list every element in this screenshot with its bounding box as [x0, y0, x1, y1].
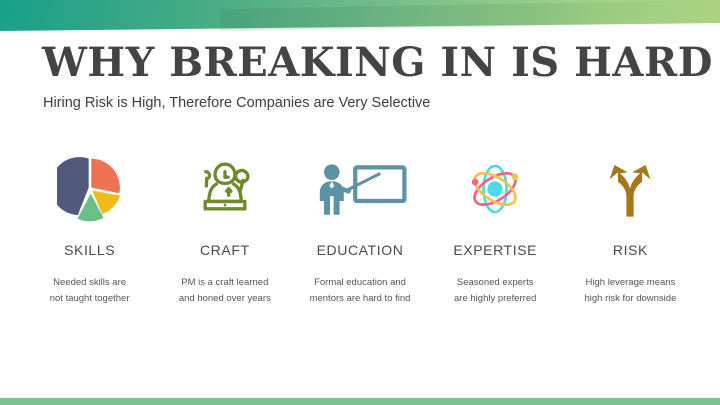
column-description: High leverage means high risk for downsi… — [584, 275, 676, 306]
column-label: SKILLS — [64, 242, 115, 258]
column-description: Needed skills are not taught together — [50, 275, 130, 306]
atom-icon — [428, 150, 563, 228]
slide-canvas: WHY BREAKING IN IS HARD Hiring Risk is H… — [0, 0, 720, 405]
feature-columns: SKILLS Needed skills are not taught toge… — [22, 150, 698, 306]
sculpture-craft-icon — [157, 150, 292, 228]
footer-accent-bar — [0, 398, 720, 405]
page-subtitle: Hiring Risk is High, Therefore Companies… — [43, 95, 430, 111]
column-label: EDUCATION — [317, 242, 404, 258]
column-description: Formal education and mentors are hard to… — [310, 275, 411, 306]
column-education: EDUCATION Formal education and mentors a… — [292, 150, 427, 306]
column-description: Seasoned experts are highly preferred — [454, 275, 536, 306]
column-label: CRAFT — [200, 242, 250, 258]
column-skills: SKILLS Needed skills are not taught toge… — [22, 150, 157, 306]
forked-arrows-up-icon — [563, 150, 698, 228]
teacher-whiteboard-icon — [292, 150, 427, 228]
column-craft: CRAFT PM is a craft learned and honed ov… — [157, 150, 292, 306]
pie-chart-icon — [22, 150, 157, 228]
column-label: RISK — [613, 242, 648, 258]
column-description: PM is a craft learned and honed over yea… — [179, 275, 271, 306]
page-title: WHY BREAKING IN IS HARD — [42, 42, 713, 84]
column-risk: RISK High leverage means high risk for d… — [563, 150, 698, 306]
column-label: EXPERTISE — [453, 242, 537, 258]
column-expertise: EXPERTISE Seasoned experts are highly pr… — [428, 150, 563, 306]
